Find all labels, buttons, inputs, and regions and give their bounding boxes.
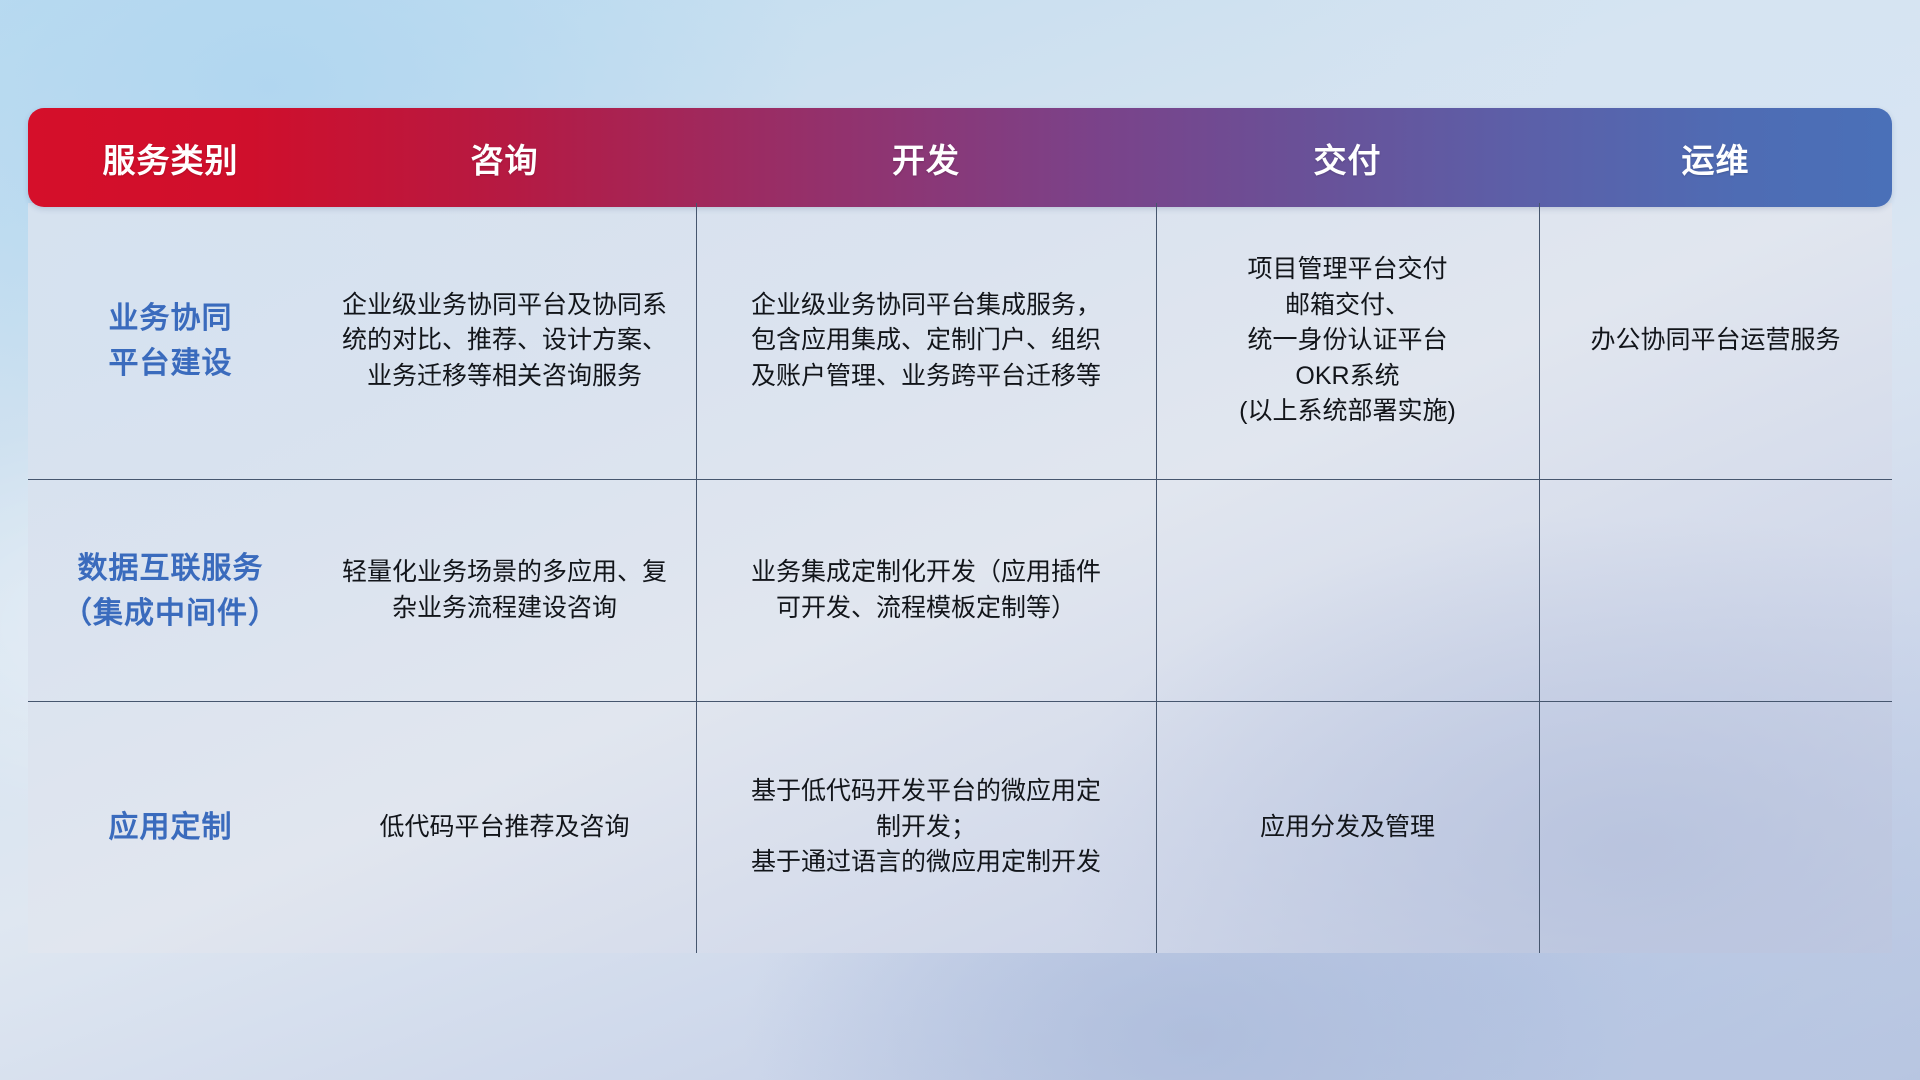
- column-divider-development-delivery: [1156, 203, 1157, 953]
- column-header-service-category: 服务类别: [28, 134, 313, 182]
- cell-development: 基于低代码开发平台的微应用定 制开发； 基于通过语言的微应用定制开发: [696, 702, 1156, 953]
- row-category-label: 应用定制: [28, 702, 313, 953]
- column-header-delivery: 交付: [1156, 134, 1539, 182]
- cell-consulting: 轻量化业务场景的多应用、复 杂业务流程建设咨询: [313, 480, 696, 701]
- row-category-label: 业务协同 平台建设: [28, 203, 313, 479]
- table-body: 业务协同 平台建设 企业级业务协同平台及协同系 统的对比、推荐、设计方案、 业务…: [28, 203, 1892, 953]
- table-header-row: 服务类别 咨询 开发 交付 运维: [28, 108, 1892, 207]
- table-row: 应用定制 低代码平台推荐及咨询 基于低代码开发平台的微应用定 制开发； 基于通过…: [28, 701, 1892, 953]
- table-row: 业务协同 平台建设 企业级业务协同平台及协同系 统的对比、推荐、设计方案、 业务…: [28, 203, 1892, 479]
- cell-delivery: [1156, 480, 1539, 701]
- cell-development: 业务集成定制化开发（应用插件 可开发、流程模板定制等）: [696, 480, 1156, 701]
- cell-operations: [1539, 702, 1892, 953]
- column-divider-delivery-operations: [1539, 203, 1540, 953]
- cell-consulting: 企业级业务协同平台及协同系 统的对比、推荐、设计方案、 业务迁移等相关咨询服务: [313, 203, 696, 479]
- cell-operations: 办公协同平台运营服务: [1539, 203, 1892, 479]
- table-row: 数据互联服务 （集成中间件） 轻量化业务场景的多应用、复 杂业务流程建设咨询 业…: [28, 479, 1892, 701]
- cell-consulting: 低代码平台推荐及咨询: [313, 702, 696, 953]
- row-category-label: 数据互联服务 （集成中间件）: [28, 480, 313, 701]
- cell-development: 企业级业务协同平台集成服务， 包含应用集成、定制门户、组织 及账户管理、业务跨平…: [696, 203, 1156, 479]
- service-matrix-table: 服务类别 咨询 开发 交付 运维 业务协同 平台建设 企业级业务协同平台及协同系…: [28, 108, 1892, 953]
- column-header-development: 开发: [696, 134, 1156, 182]
- column-header-operations: 运维: [1539, 134, 1892, 182]
- column-divider-consulting-development: [696, 203, 697, 953]
- cell-delivery: 项目管理平台交付 邮箱交付、 统一身份认证平台 OKR系统 (以上系统部署实施): [1156, 203, 1539, 479]
- cell-delivery: 应用分发及管理: [1156, 702, 1539, 953]
- column-header-consulting: 咨询: [313, 134, 696, 182]
- cell-operations: [1539, 480, 1892, 701]
